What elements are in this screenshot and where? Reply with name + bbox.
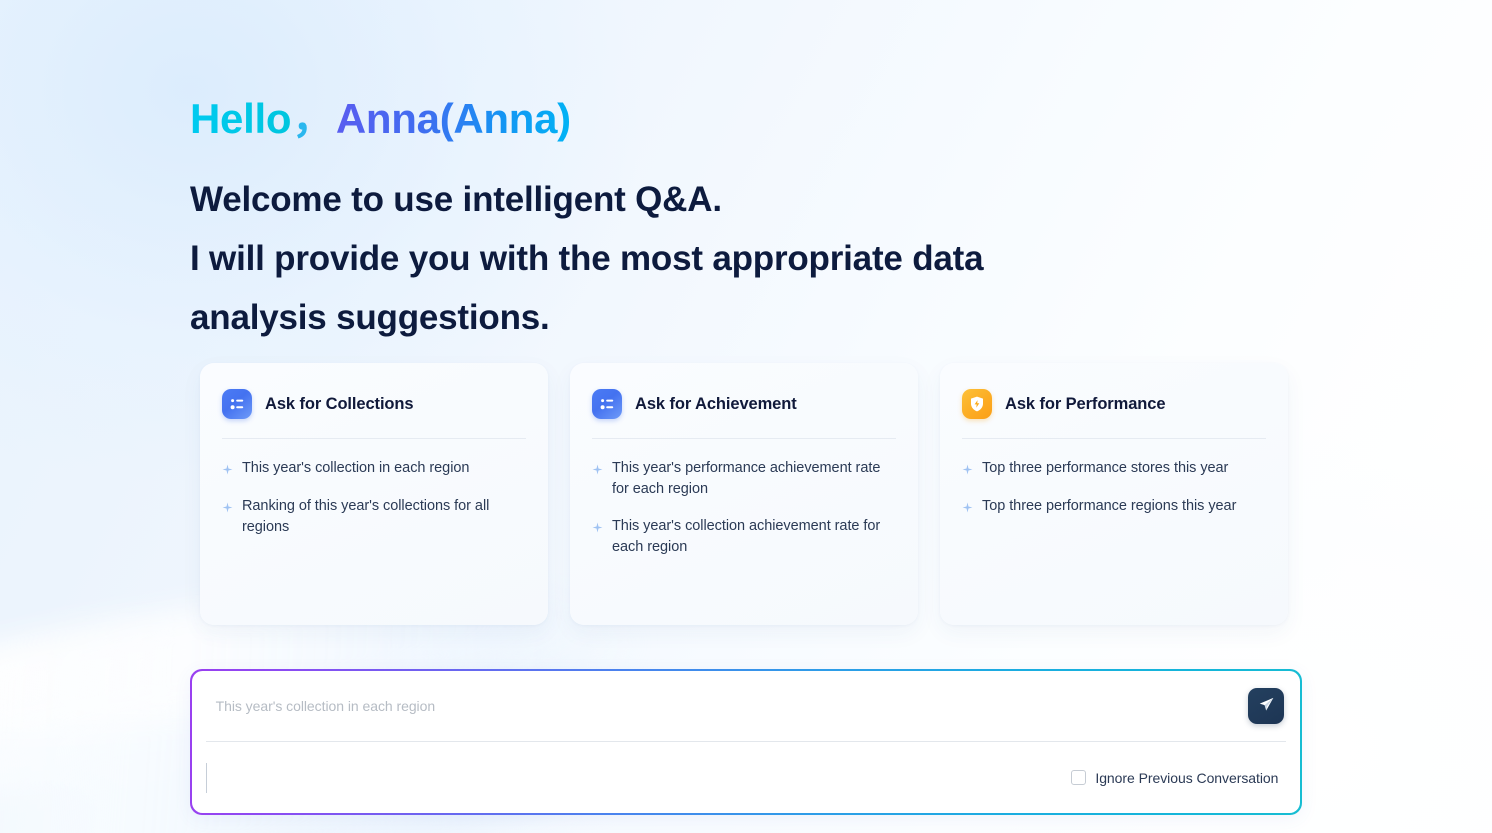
- card-title: Ask for Performance: [1005, 395, 1165, 414]
- card-suggestion-list: Top three performance stores this year T…: [962, 458, 1266, 518]
- composer-gradient-border: This year's collection in each region Ig…: [190, 669, 1302, 815]
- card-divider: [592, 438, 896, 439]
- card-title: Ask for Collections: [265, 395, 413, 414]
- card-header: Ask for Performance: [962, 385, 1266, 423]
- search-input[interactable]: This year's collection in each region: [216, 698, 1249, 714]
- list-item[interactable]: Top three performance stores this year: [962, 458, 1266, 480]
- greeting-username: Anna(Anna): [336, 95, 571, 142]
- sparkle-icon: [222, 462, 233, 480]
- ignore-previous-conversation-toggle[interactable]: Ignore Previous Conversation: [1071, 770, 1278, 786]
- card-header: Ask for Achievement: [592, 385, 896, 423]
- sparkle-icon: [592, 462, 603, 480]
- list-item-label: Top three performance regions this year: [982, 496, 1236, 517]
- sparkle-icon: [962, 500, 973, 518]
- suggestion-card-achievement[interactable]: Ask for Achievement This year's performa…: [570, 363, 918, 625]
- send-button[interactable]: [1248, 688, 1284, 724]
- composer-options-row: Ignore Previous Conversation: [192, 742, 1301, 814]
- list-item-label: Ranking of this year's collections for a…: [242, 496, 526, 538]
- ignore-previous-conversation-checkbox[interactable]: [1071, 770, 1086, 785]
- list-item[interactable]: Ranking of this year's collections for a…: [222, 496, 526, 538]
- headline-line-3: analysis suggestions.: [190, 288, 1240, 347]
- card-title: Ask for Achievement: [635, 395, 797, 414]
- shield-bolt-icon: [962, 389, 992, 419]
- list-item-label: Top three performance stores this year: [982, 458, 1228, 479]
- composer: This year's collection in each region Ig…: [192, 671, 1301, 814]
- list-item-label: This year's collection achievement rate …: [612, 516, 896, 558]
- suggestion-card-collections[interactable]: Ask for Collections This year's collecti…: [200, 363, 548, 625]
- sparkle-icon: [962, 462, 973, 480]
- sparkle-icon: [222, 500, 233, 518]
- list-item-label: This year's collection in each region: [242, 458, 469, 479]
- composer-input-row[interactable]: This year's collection in each region: [192, 671, 1301, 741]
- headline-line-2: I will provide you with the most appropr…: [190, 229, 1240, 288]
- suggestion-card-list: Ask for Collections This year's collecti…: [200, 363, 1292, 625]
- card-suggestion-list: This year's performance achievement rate…: [592, 458, 896, 558]
- sparkle-icon: [592, 520, 603, 538]
- suggestion-card-performance[interactable]: Ask for Performance Top three performanc…: [940, 363, 1288, 625]
- text-cursor: [206, 763, 208, 793]
- card-suggestion-list: This year's collection in each region Ra…: [222, 458, 526, 538]
- send-plane-icon: [1257, 695, 1276, 717]
- list-item[interactable]: This year's performance achievement rate…: [592, 458, 896, 500]
- headline-line-1: Welcome to use intelligent Q&A.: [190, 170, 1240, 229]
- list-bullet-icon: [592, 389, 622, 419]
- card-header: Ask for Collections: [222, 385, 526, 423]
- card-divider: [222, 438, 526, 439]
- page-title: Welcome to use intelligent Q&A. I will p…: [190, 170, 1240, 347]
- greeting-line: Hello，Anna(Anna): [190, 97, 571, 141]
- list-item[interactable]: Top three performance regions this year: [962, 496, 1266, 518]
- greeting-hello: Hello: [190, 95, 291, 142]
- greeting-comma: ，: [291, 95, 336, 142]
- list-bullet-icon: [222, 389, 252, 419]
- welcome-page: Hello，Anna(Anna) Welcome to use intellig…: [0, 0, 1492, 833]
- list-item-label: This year's performance achievement rate…: [612, 458, 896, 500]
- card-divider: [962, 438, 1266, 439]
- ignore-previous-conversation-label: Ignore Previous Conversation: [1095, 770, 1278, 786]
- list-item[interactable]: This year's collection in each region: [222, 458, 526, 480]
- list-item[interactable]: This year's collection achievement rate …: [592, 516, 896, 558]
